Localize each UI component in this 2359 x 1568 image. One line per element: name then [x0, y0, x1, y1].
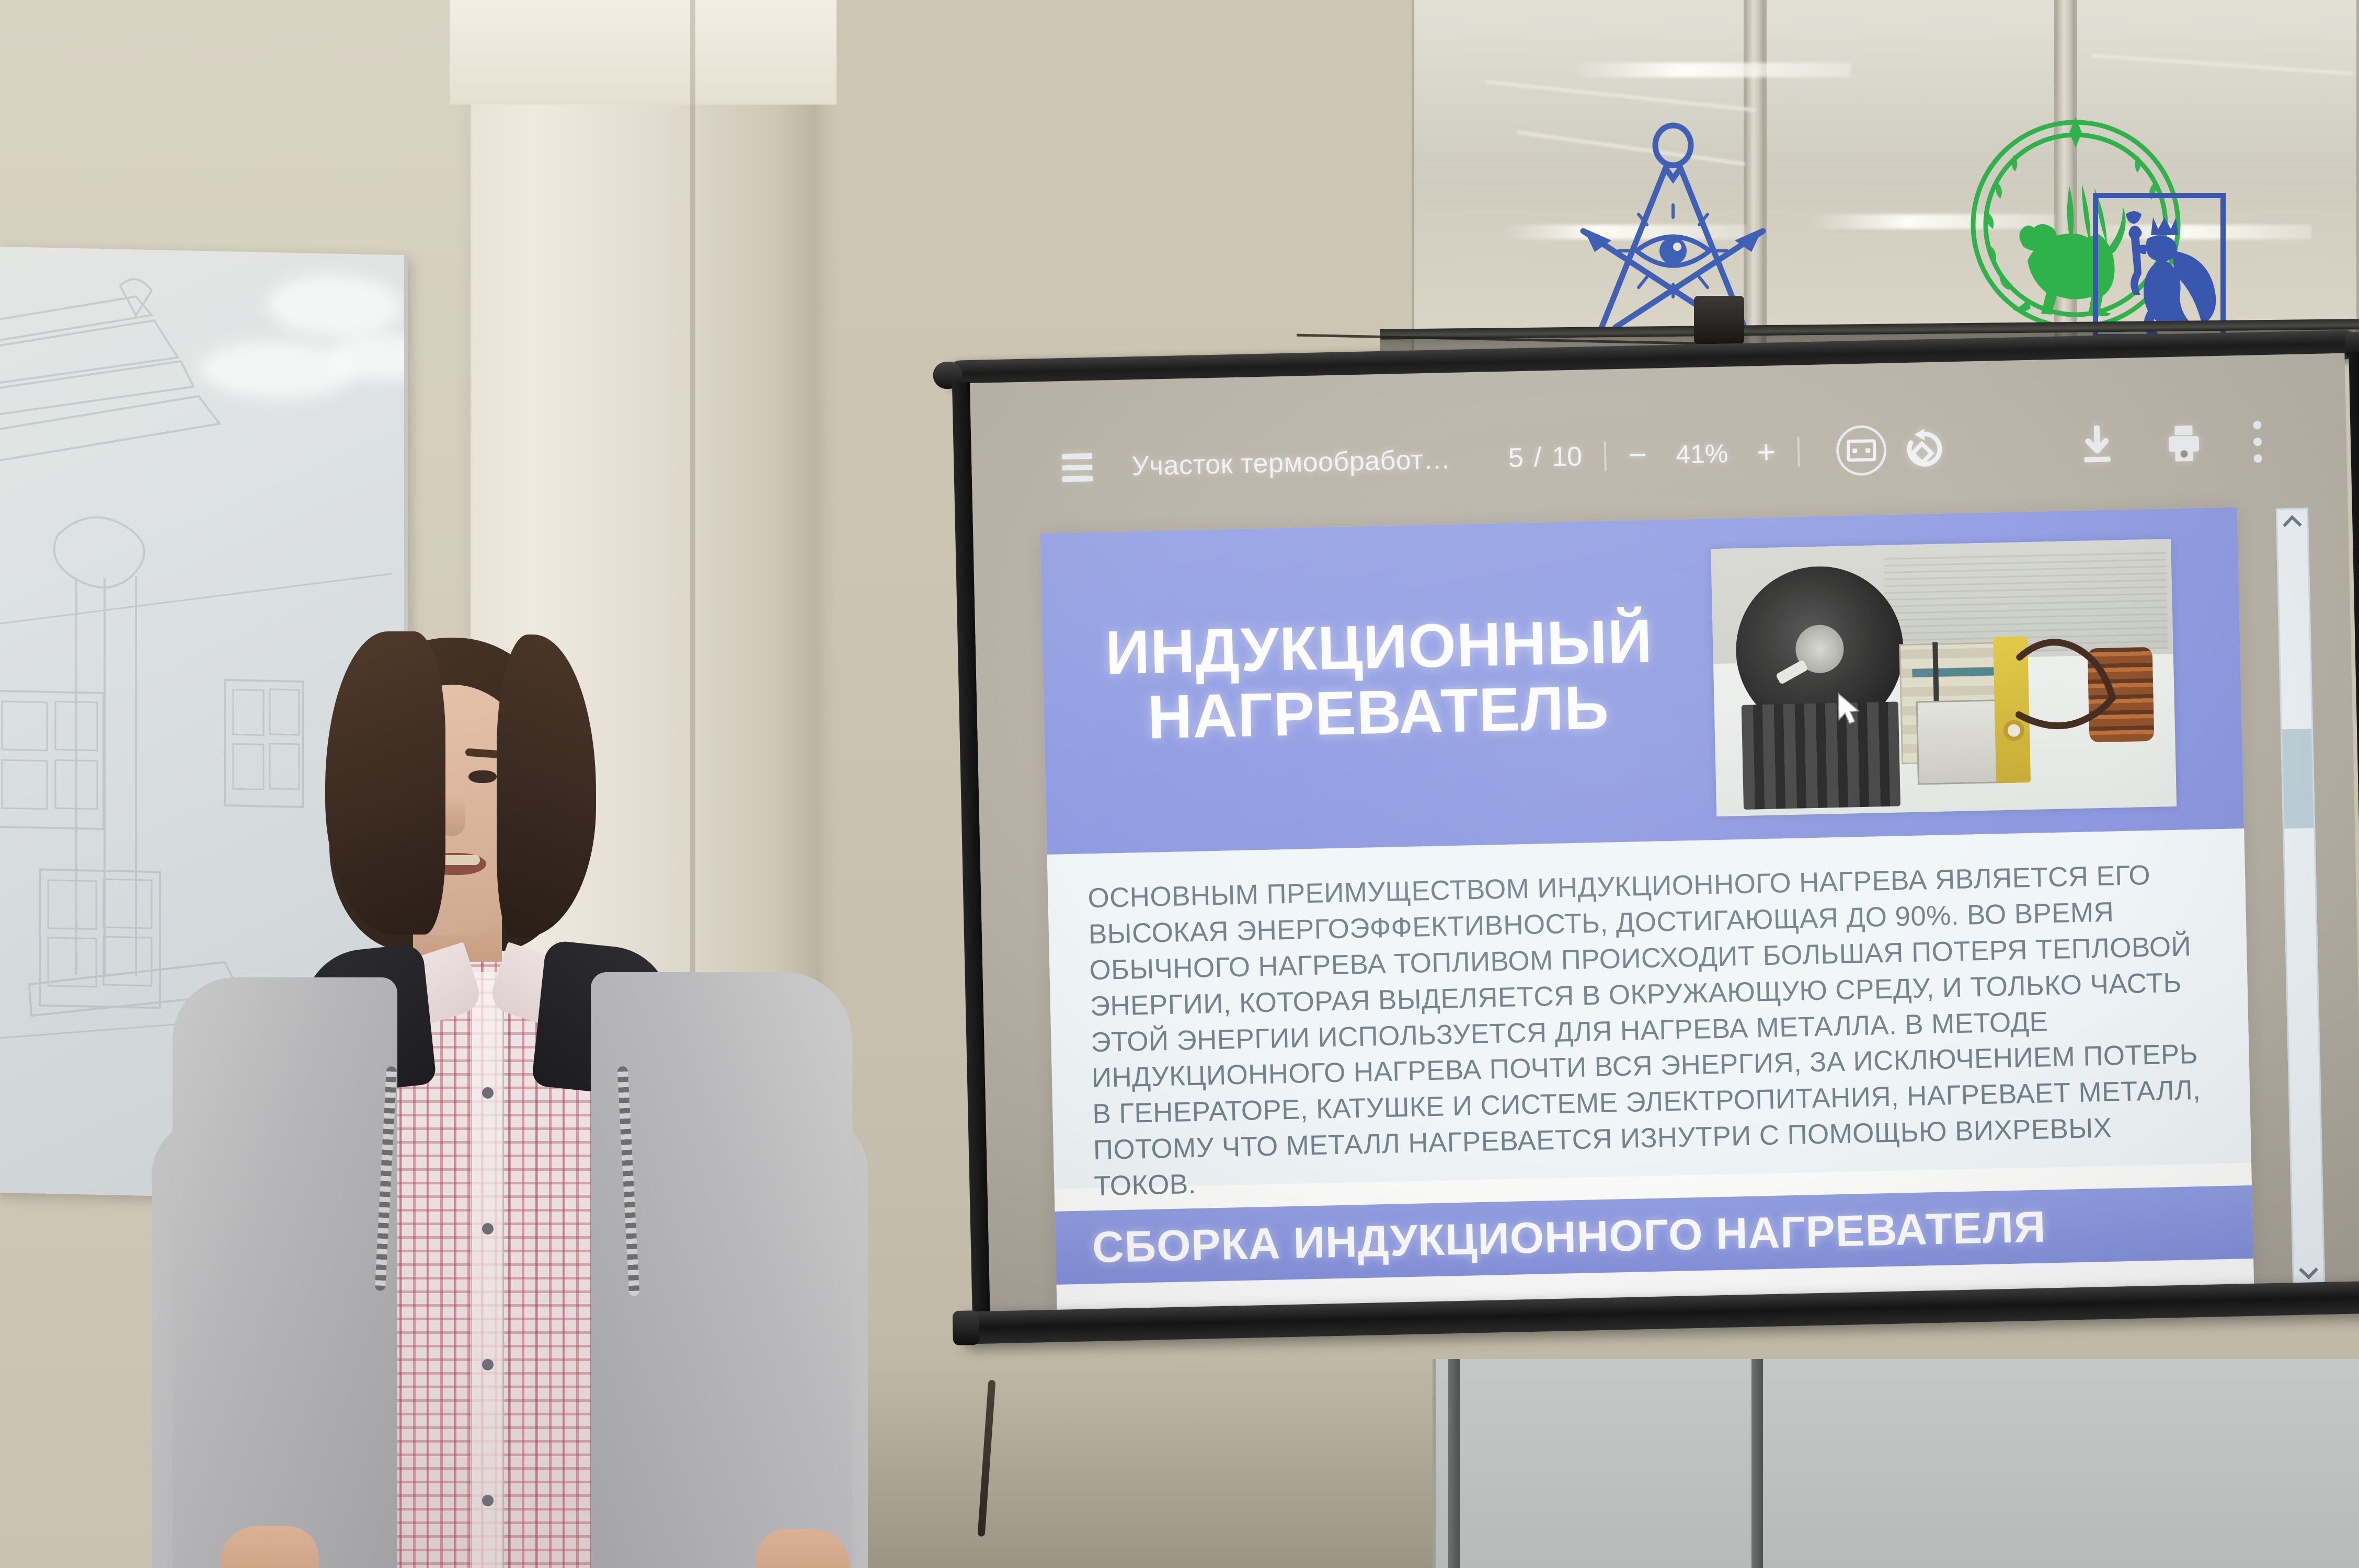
slide-cta-text: СБОРКА ИНДУКЦИОННОГО НАГРЕВАТЕЛЯ: [1092, 1201, 2046, 1273]
page-separator: /: [1533, 442, 1542, 473]
slide-body-text: ОСНОВНЫМ ПРЕИМУЩЕСТВОМ ИНДУКЦИОННОГО НАГ…: [1087, 857, 2212, 1205]
ceiling-light-reflection-1: [1568, 63, 1851, 77]
screen-bottom-bar-cap: [953, 1310, 979, 1345]
hand-left: [220, 1526, 319, 1568]
photo-mouse-cursor-icon: [1836, 692, 1862, 727]
hair-front-right: [497, 635, 596, 938]
pdf-page: ИНДУКЦИОННЫЙ НАГРЕВАТЕЛЬ: [1040, 507, 2254, 1314]
hoodie-body-left: [173, 977, 397, 1568]
board-post-left: [1448, 1359, 1460, 1568]
scroll-up-arrow-icon[interactable]: [2277, 509, 2307, 540]
slide-title-line-2: НАГРЕВАТЕЛЬ: [1106, 672, 1735, 751]
fit-to-width-icon[interactable]: [1836, 425, 1887, 476]
page-indicator: 5 / 10: [1508, 441, 1582, 474]
presenter: [173, 617, 915, 1568]
screen-surface: Участок термообработ… 5 / 10 − 41% +: [970, 353, 2359, 1315]
shirt-button-3: [482, 1359, 494, 1370]
scroll-down-arrow-icon[interactable]: [2294, 1254, 2323, 1285]
page-total: 10: [1552, 441, 1583, 473]
slide-hero-section: ИНДУКЦИОННЫЙ НАГРЕВАТЕЛЬ: [1040, 507, 2244, 855]
print-icon[interactable]: [2165, 423, 2203, 464]
induction-heater-photo: [1711, 539, 2177, 816]
pillar-capital: [450, 0, 837, 105]
shirt-placket: [471, 972, 504, 1568]
photo-coil-lead-wires: [2013, 618, 2121, 756]
vertical-scrollbar[interactable]: [2276, 508, 2325, 1287]
document-title: Участок термообработ…: [1131, 444, 1451, 482]
zoom-in-button[interactable]: +: [1757, 441, 1776, 464]
zoom-level-value: 41%: [1668, 438, 1736, 470]
toolbar-divider-1: [1604, 441, 1606, 471]
projection-screen: Участок термообработ… 5 / 10 − 41% +: [946, 330, 2359, 1374]
zoom-controls: − 41% +: [1628, 437, 1776, 470]
toolbar-divider-2: [1797, 436, 1800, 467]
projector-mount-bracket: [1694, 296, 1744, 344]
rotate-counterclockwise-icon[interactable]: [1902, 426, 1948, 472]
board-post-right: [1751, 1359, 1763, 1568]
toolbar-right-group: [2078, 421, 2263, 467]
page-current[interactable]: 5: [1508, 442, 1524, 474]
rear-whiteboard-panel: [1433, 1359, 2359, 1568]
pdf-viewer: Участок термообработ… 5 / 10 − 41% +: [970, 353, 2359, 1315]
zoom-out-button[interactable]: −: [1628, 444, 1647, 467]
shirt-button-4: [482, 1495, 494, 1506]
scrollbar-thumb[interactable]: [2282, 729, 2314, 828]
shirt-button-2: [482, 1223, 494, 1235]
shirt-button-1: [482, 1087, 494, 1099]
photo-heatsink: [1742, 701, 1900, 809]
slide-title: ИНДУКЦИОННЫЙ НАГРЕВАТЕЛЬ: [1105, 607, 1735, 751]
eye-right: [468, 770, 497, 783]
hamburger-menu-icon[interactable]: [1060, 453, 1094, 482]
room-scene: Участок термообработ… 5 / 10 − 41% +: [0, 0, 2359, 1568]
download-icon[interactable]: [2078, 425, 2116, 466]
more-options-icon[interactable]: [2252, 421, 2263, 463]
pdf-toolbar: Участок термообработ… 5 / 10 − 41% +: [971, 403, 2347, 506]
slide-body-section: ОСНОВНЫМ ПРЕИМУЩЕСТВОМ ИНДУКЦИОННОГО НАГ…: [1047, 828, 2251, 1189]
glass-partition: [1412, 0, 2359, 361]
hair-front-left: [325, 631, 445, 935]
